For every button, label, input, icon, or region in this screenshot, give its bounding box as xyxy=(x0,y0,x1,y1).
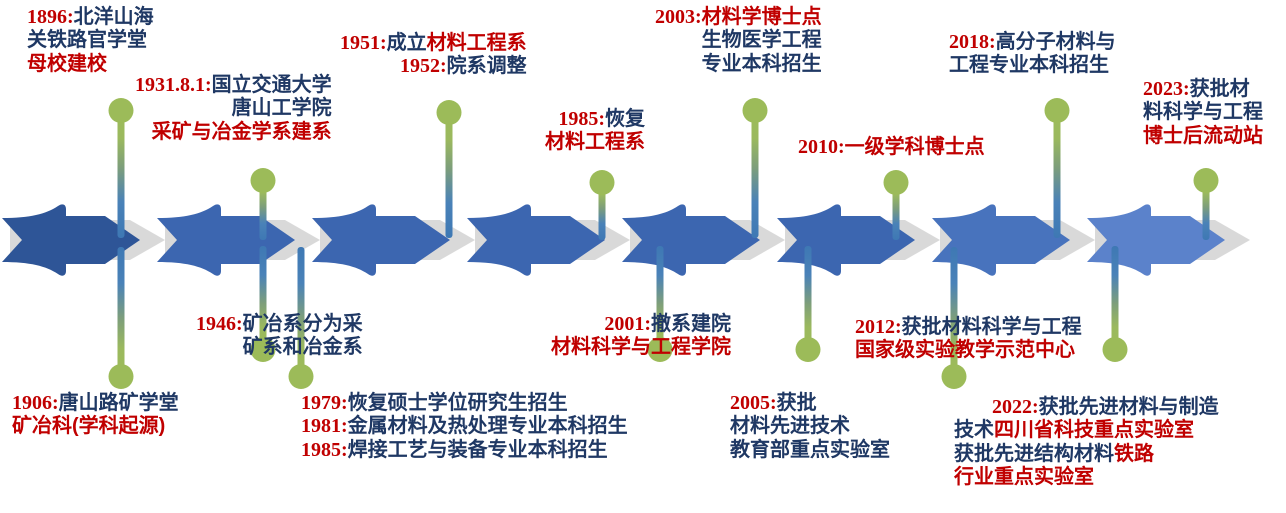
event-text: 获批 xyxy=(777,392,817,414)
pin-stem xyxy=(752,110,759,238)
event-label-2022[interactable]: 2022:获批先进材料与制造 技术四川省科技重点实验室 获批先进结构材料铁路 行… xyxy=(992,396,1219,490)
event-line: 教育部重点实验室 xyxy=(730,439,890,462)
event-line: 1952:院系调整 xyxy=(340,55,527,78)
event-year: 1931.8.1: xyxy=(135,74,212,96)
event-year: 1979: xyxy=(301,392,348,414)
event-label-2010[interactable]: 2010:一级学科博士点 xyxy=(798,136,985,159)
event-line: 2005:获批 xyxy=(730,392,890,415)
event-line: 2018:高分子材料与 xyxy=(949,31,1116,54)
event-line: 材料先进技术 xyxy=(730,415,890,438)
event-text: 恢复硕士学位研究生招生 xyxy=(348,392,568,414)
pin-stem xyxy=(805,246,812,350)
event-line: 2012:获批材料科学与工程 xyxy=(855,316,1082,339)
event-line: 工程专业本科招生 xyxy=(949,54,1116,77)
event-line: 1946:矿冶系分为采 xyxy=(196,313,363,336)
event-line: 1981:金属材料及热处理专业本科招生 xyxy=(301,415,628,438)
event-line: 行业重点实验室 xyxy=(954,466,1219,489)
event-label-1896[interactable]: 1896:北洋山海 关铁路官学堂 母校建校 xyxy=(27,6,154,76)
pin-head-circle xyxy=(796,337,821,362)
pin-head-circle xyxy=(743,98,768,123)
timeline-infographic: 1896:北洋山海 关铁路官学堂 母校建校 1906:唐山路矿学堂 矿冶科(学科… xyxy=(0,0,1286,513)
event-label-2012[interactable]: 2012:获批材料科学与工程 国家级实验教学示范中心 xyxy=(855,316,1082,363)
pin-head-circle xyxy=(590,170,615,195)
pin-2018 xyxy=(1042,98,1072,238)
event-text: 国立交通大学 xyxy=(212,74,332,96)
event-label-1985[interactable]: 1985:恢复 材料工程系 xyxy=(545,108,645,155)
event-year: 1985: xyxy=(301,439,348,461)
event-year: 1906: xyxy=(12,392,59,414)
event-highlight: 四川省科技重点实验室 xyxy=(994,419,1194,441)
pin-1985 xyxy=(587,170,617,240)
event-text: 北洋山海 xyxy=(74,6,154,28)
event-label-1979[interactable]: 1979:恢复硕士学位研究生招生 1981:金属材料及热处理专业本科招生 198… xyxy=(301,392,628,462)
event-year: 2022: xyxy=(992,396,1039,418)
event-year: 1981: xyxy=(301,415,348,437)
event-line: 2001:撤系建院 xyxy=(551,313,731,336)
event-label-1951[interactable]: 1951:成立材料工程系 1952:院系调整 xyxy=(340,32,527,79)
event-text: 恢复 xyxy=(605,108,645,130)
event-text: 获批材料科学与工程 xyxy=(902,316,1082,338)
event-year: 2010: xyxy=(798,136,845,158)
pin-stem xyxy=(118,110,125,238)
event-text: 唐山路矿学堂 xyxy=(59,392,179,414)
event-highlight: 铁路 xyxy=(1114,443,1154,465)
event-line: 关铁路官学堂 xyxy=(27,29,154,52)
pin-head-circle xyxy=(1045,98,1070,123)
event-highlight: 材料工程系 xyxy=(427,32,527,54)
event-line: 采矿与冶金学系建系 xyxy=(135,121,332,144)
event-line: 专业本科招生 xyxy=(655,53,822,76)
event-year: 2023: xyxy=(1143,78,1190,100)
event-text: 获批材 xyxy=(1190,78,1250,100)
event-year: 2005: xyxy=(730,392,777,414)
pin-stem xyxy=(118,247,125,377)
event-line: 国家级实验教学示范中心 xyxy=(855,339,1082,362)
event-text: 焊接工艺与装备专业本科招生 xyxy=(348,439,608,461)
pin-head-circle xyxy=(942,364,967,389)
pin-stem xyxy=(1112,246,1119,350)
pin-head-circle xyxy=(1194,168,1219,193)
event-line: 母校建校 xyxy=(27,53,154,76)
event-label-2005[interactable]: 2005:获批 材料先进技术 教育部重点实验室 xyxy=(730,392,890,462)
event-line: 技术四川省科技重点实验室 xyxy=(954,419,1219,442)
event-label-1931[interactable]: 1931.8.1:国立交通大学 唐山工学院 采矿与冶金学系建系 xyxy=(135,74,332,144)
event-line: 2022:获批先进材料与制造 xyxy=(992,396,1219,419)
event-year: 2001: xyxy=(604,313,651,335)
pin-2012 xyxy=(1100,246,1130,362)
event-year: 1946: xyxy=(196,313,243,335)
event-text: 获批先进结构材料 xyxy=(954,443,1114,465)
event-line: 1906:唐山路矿学堂 xyxy=(12,392,179,415)
event-line: 获批先进结构材料铁路 xyxy=(954,443,1219,466)
event-line: 1985:恢复 xyxy=(545,108,645,131)
event-year: 1896: xyxy=(27,6,74,28)
timeline-arrow-band xyxy=(0,200,1286,280)
event-label-1946[interactable]: 1946:矿冶系分为采 矿系和冶金系 xyxy=(196,313,363,360)
pin-2005 xyxy=(793,246,823,362)
event-line: 唐山工学院 xyxy=(135,97,332,120)
event-line: 1896:北洋山海 xyxy=(27,6,154,29)
event-text: 撤系建院 xyxy=(651,313,731,335)
event-year: 1952: xyxy=(400,55,447,77)
event-text: 院系调整 xyxy=(447,55,527,77)
pin-1906 xyxy=(106,247,136,389)
pin-2023 xyxy=(1191,168,1221,240)
event-line: 2023:获批材 xyxy=(1143,78,1263,101)
event-highlight: 一级学科博士点 xyxy=(845,136,985,158)
pin-2003 xyxy=(740,98,770,238)
pin-1931 xyxy=(248,168,278,240)
event-line: 生物医学工程 xyxy=(655,29,822,52)
event-label-2001[interactable]: 2001:撤系建院 材料科学与工程学院 xyxy=(551,313,731,360)
event-year: 2012: xyxy=(855,316,902,338)
pin-head-circle xyxy=(109,98,134,123)
pin-2010 xyxy=(881,170,911,240)
event-label-1906[interactable]: 1906:唐山路矿学堂 矿冶科(学科起源) xyxy=(12,392,179,439)
pin-1951 xyxy=(434,100,464,238)
pin-stem xyxy=(1054,110,1061,238)
pin-1896 xyxy=(106,98,136,238)
event-year: 1985: xyxy=(558,108,605,130)
event-label-2018[interactable]: 2018:高分子材料与 工程专业本科招生 xyxy=(949,31,1116,78)
pin-head-circle xyxy=(884,170,909,195)
event-text: 金属材料及热处理专业本科招生 xyxy=(348,415,628,437)
event-line: 1985:焊接工艺与装备专业本科招生 xyxy=(301,439,628,462)
pin-head-circle xyxy=(437,100,462,125)
event-line: 1951:成立材料工程系 xyxy=(340,32,527,55)
event-line: 材料工程系 xyxy=(545,131,645,154)
event-line: 料科学与工程 xyxy=(1143,101,1263,124)
pin-head-circle xyxy=(251,168,276,193)
pin-head-circle xyxy=(1103,337,1128,362)
event-line: 2010:一级学科博士点 xyxy=(798,136,985,159)
event-line: 1979:恢复硕士学位研究生招生 xyxy=(301,392,628,415)
event-text: 技术 xyxy=(954,419,994,441)
event-year: 2018: xyxy=(949,31,996,53)
event-line: 2003:材料学博士点 xyxy=(655,6,822,29)
event-highlight: 材料学博士点 xyxy=(702,6,822,28)
pin-head-circle xyxy=(109,364,134,389)
event-line: 矿冶科(学科起源) xyxy=(12,415,179,438)
pin-stem xyxy=(446,112,453,238)
event-label-2003[interactable]: 2003:材料学博士点 生物医学工程 专业本科招生 xyxy=(655,6,822,76)
event-line: 矿系和冶金系 xyxy=(196,336,363,359)
event-line: 1931.8.1:国立交通大学 xyxy=(135,74,332,97)
event-text: 获批先进材料与制造 xyxy=(1039,396,1219,418)
event-label-2023[interactable]: 2023:获批材 料科学与工程 博士后流动站 xyxy=(1143,78,1263,148)
event-year: 2003: xyxy=(655,6,702,28)
event-line: 材料科学与工程学院 xyxy=(551,336,731,359)
event-text: 矿冶系分为采 xyxy=(243,313,363,335)
pin-head-circle xyxy=(289,364,314,389)
event-text: 高分子材料与 xyxy=(996,31,1116,53)
event-line: 博士后流动站 xyxy=(1143,125,1263,148)
event-year: 1951: xyxy=(340,32,387,54)
event-text: 成立 xyxy=(387,32,427,54)
